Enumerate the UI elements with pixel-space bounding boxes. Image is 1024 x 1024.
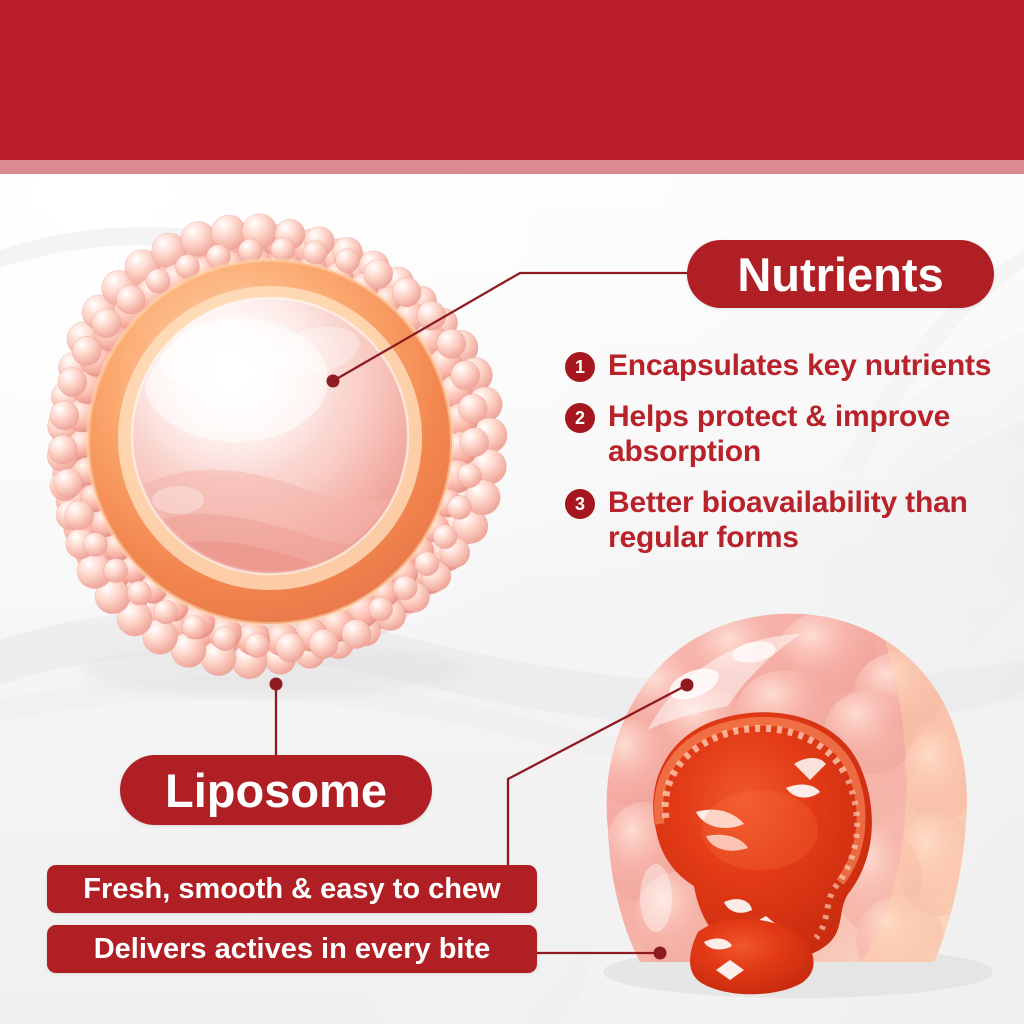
nutrients-benefit-list: 1 Encapsulates key nutrients 2 Helps pro… <box>565 348 1010 571</box>
benefit-item-3: 3 Better bioavailability than regular fo… <box>565 485 1010 555</box>
gummy-candy-illustration <box>548 580 1018 1000</box>
gummy-body <box>596 612 1018 994</box>
benefit-number-3: 3 <box>565 489 595 519</box>
benefit-text-2: Helps protect & improve absorption <box>608 399 1010 469</box>
benefit-item-1: 1 Encapsulates key nutrients <box>565 348 1010 383</box>
benefit-text-3: Better bioavailability than regular form… <box>608 485 1010 555</box>
liposome-illustration <box>18 200 538 700</box>
caption-delivers-actives: Delivers actives in every bite <box>47 925 537 973</box>
infographic-canvas: Liposome & Center Technology Absorb Bett… <box>0 0 1024 1024</box>
benefit-item-2: 2 Helps protect & improve absorption <box>565 399 1010 469</box>
label-liposome: Liposome <box>120 755 432 825</box>
benefit-number-1: 1 <box>565 352 595 382</box>
header-underline <box>0 160 1024 174</box>
caption-fresh-smooth: Fresh, smooth & easy to chew <box>47 865 537 913</box>
benefit-text-1: Encapsulates key nutrients <box>608 348 991 383</box>
label-nutrients: Nutrients <box>687 240 994 308</box>
header-banner <box>0 0 1024 160</box>
benefit-number-2: 2 <box>565 403 595 433</box>
